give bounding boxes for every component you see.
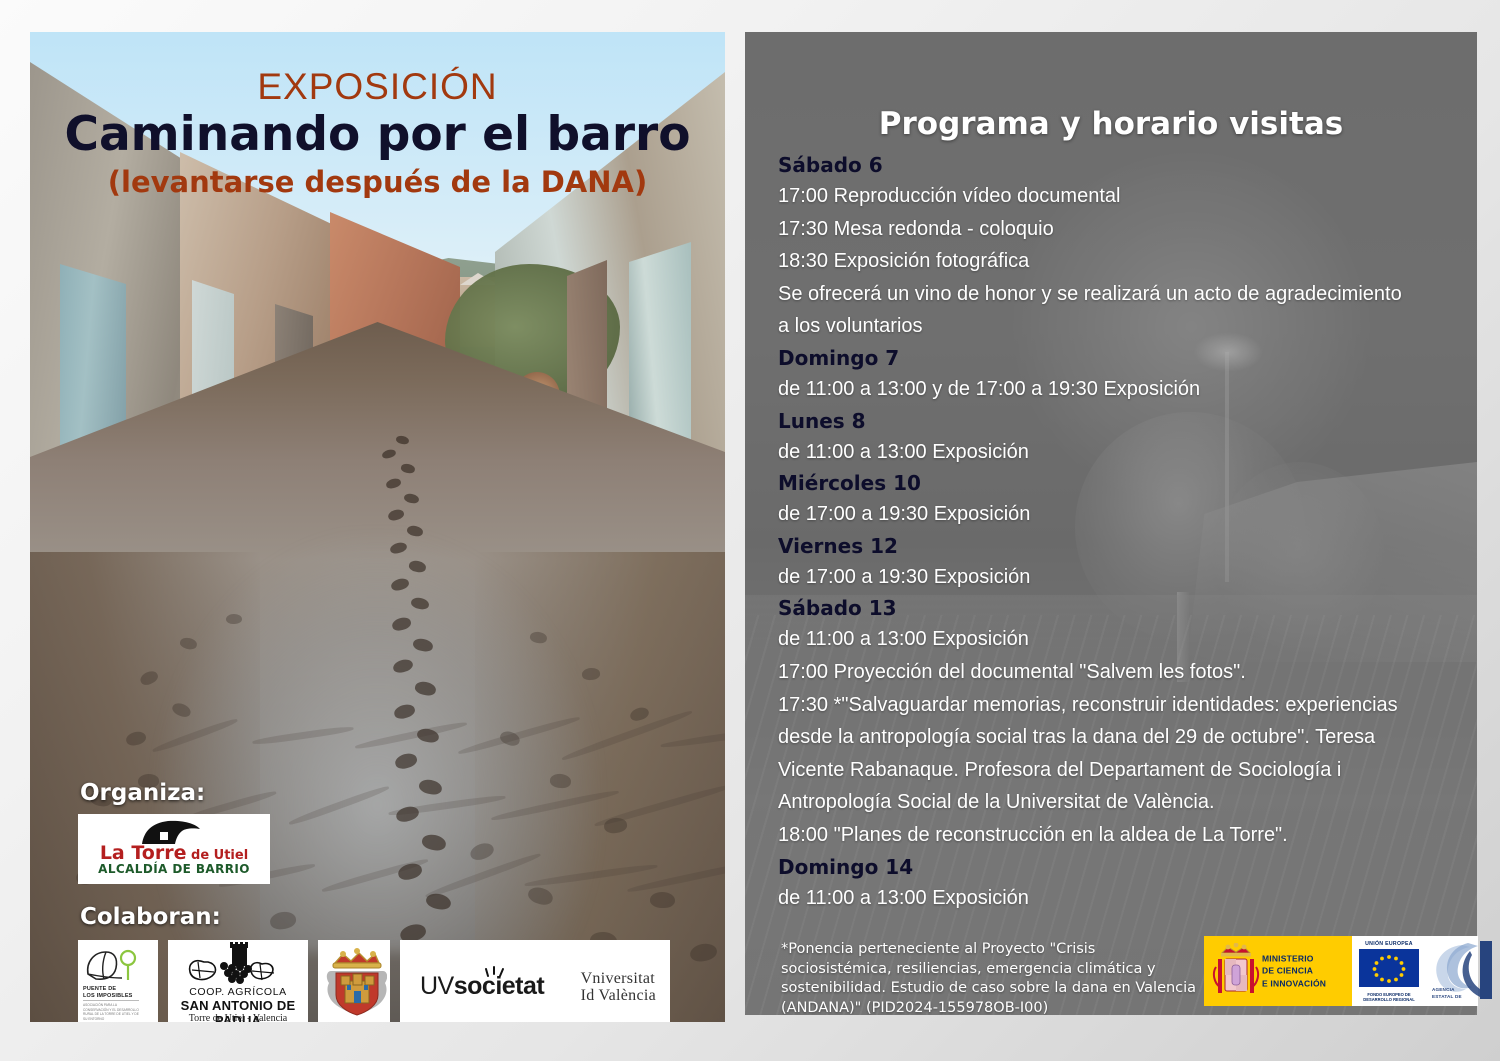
photo-footprint <box>400 463 416 474</box>
screenshot-canvas: EXPOSICIÓN Caminando por el barro (levan… <box>0 0 1500 1061</box>
schedule-entry: de 17:00 a 19:30 Exposición <box>778 498 1468 531</box>
schedule-day-header: Lunes 8 <box>778 406 1468 436</box>
eu-flag-icon <box>1359 949 1419 987</box>
photo-footprint <box>408 559 427 573</box>
photo-footprint <box>226 614 242 625</box>
poster-subtitle: (levantarse después de la DANA) <box>30 165 725 200</box>
photo-footprint <box>414 680 437 697</box>
organizer-logo-line2: ALCALDÍA DE BARRIO <box>86 862 262 876</box>
program-panel: Programa y horario visitas Sábado 617:00… <box>745 32 1477 1015</box>
universitat-de-valencia-wordmark: Vniversitat Id València <box>581 970 656 1005</box>
schedule-day-header: Sábado 13 <box>778 593 1468 623</box>
photo-tyre-track <box>524 863 658 889</box>
photo-tyre-track <box>355 720 468 751</box>
schedule-entry: de 11:00 a 13:00 Exposición <box>778 436 1468 469</box>
logo-union-europea-feder: UNIÓN EUROPEA FONDO EUROPEO DEDESARROLLO… <box>1352 936 1426 1006</box>
organizer-logo-la-torre-de-utiel: La Torre de Utiel ALCALDÍA DE BARRIO <box>78 814 270 884</box>
photo-footprint <box>394 751 419 770</box>
photo-footprint <box>468 840 496 863</box>
puente-mark-icon <box>82 944 142 988</box>
photo-tyre-track <box>288 784 390 827</box>
coop-logo-line1: COOP. AGRÍCOLA <box>168 986 308 998</box>
photo-footprint <box>125 730 148 747</box>
photo-footprint <box>406 524 424 537</box>
schedule-entry: de 17:00 a 19:30 Exposición <box>778 561 1468 594</box>
schedule-day-header: Domingo 7 <box>778 343 1468 373</box>
photo-tyre-track <box>627 857 725 894</box>
aei-label: AGENCIAESTATAL DE <box>1432 987 1462 1000</box>
eu-top-label: UNIÓN EUROPEA <box>1352 941 1426 947</box>
schedule-entry: de 11:00 a 13:00 Exposición <box>778 882 1468 915</box>
collaborator-logo-escudo-utiel <box>318 940 390 1022</box>
photo-tyre-track <box>457 715 580 756</box>
photo-tyre-track <box>660 722 725 750</box>
colaboran-label: Colaboran: <box>80 904 221 930</box>
uv-spark-icon <box>484 966 506 980</box>
funding-logos-strip: MINISTERIODE CIENCIAE INNOVACIÓN UNIÓN E… <box>1204 936 1478 1006</box>
photo-tyre-track <box>152 717 239 754</box>
collaborator-logos: PUENTE DELOS IMPOSIBLES ASOCIACIÓN PARA … <box>78 940 670 1022</box>
schedule-entry: Vicente Rabanaque. Profesora del Departa… <box>778 754 1468 787</box>
schedule-day-header: Miércoles 10 <box>778 468 1468 498</box>
grapes-and-tower-icon <box>174 942 302 986</box>
eu-bottom-label: FONDO EUROPEO DEDESARROLLO REGIONAL <box>1352 992 1426 1003</box>
coat-of-arms-icon <box>321 943 387 1022</box>
photo-tyre-track <box>491 789 620 823</box>
photo-footprint <box>526 885 555 908</box>
photo-footprint <box>391 616 412 632</box>
spain-coat-of-arms-icon <box>1212 943 1260 999</box>
organiza-label: Organiza: <box>80 780 205 806</box>
poster-headline-block: EXPOSICIÓN Caminando por el barro (levan… <box>30 68 725 200</box>
collaborator-logo-uv-societat: UVsocietat Vniversitat Id València <box>400 940 670 1022</box>
collaborator-logo-puente-de-los-imposibles: PUENTE DELOS IMPOSIBLES ASOCIACIÓN PARA … <box>78 940 158 1022</box>
photo-footprint <box>418 778 443 796</box>
photo-footprint <box>582 667 601 680</box>
schedule-entry: desde la antropología social tras la dan… <box>778 721 1468 754</box>
organizer-logo-line1: La Torre de Utiel <box>86 842 262 864</box>
photo-footprint <box>269 910 297 931</box>
puente-logo-subtext: ASOCIACIÓN PARA LA CONSERVACIÓN Y EL DES… <box>83 1003 141 1022</box>
photo-tyre-track <box>594 783 725 829</box>
schedule-entry: 17:30 Mesa redonda - coloquio <box>778 213 1468 246</box>
page-title: Caminando por el barro <box>30 109 725 162</box>
photo-footprint <box>412 637 434 653</box>
photo-tyre-track <box>252 725 354 746</box>
photo-footprint <box>170 701 192 720</box>
photo-footprint <box>381 448 396 460</box>
schedule-entry: 17:00 Proyección del documental "Salvem … <box>778 656 1468 689</box>
schedule-entry: 18:00 "Planes de reconstrucción en la al… <box>778 819 1468 852</box>
exposition-poster: EXPOSICIÓN Caminando por el barro (levan… <box>30 32 725 1022</box>
photo-footprint <box>689 942 719 964</box>
program-content: Programa y horario visitas Sábado 617:00… <box>745 32 1477 1015</box>
schedule-entry: Antropología Social de la Universitat de… <box>778 786 1468 819</box>
photo-footprint <box>385 477 402 490</box>
coop-logo-line3: Torre de Utiel - Valencia <box>168 1013 308 1022</box>
photo-footprint <box>393 702 417 720</box>
poster-eyebrow: EXPOSICIÓN <box>30 68 725 107</box>
schedule-entry: 17:30 *"Salvaguardar memorias, reconstru… <box>778 689 1468 722</box>
schedule-entry: Se ofrecerá un vino de honor y se realiz… <box>778 278 1468 311</box>
schedule-entry: de 11:00 a 13:00 y de 17:00 a 19:30 Expo… <box>778 373 1468 406</box>
schedule-list: Sábado 617:00 Reproducción vídeo documen… <box>778 150 1468 914</box>
photo-footprint <box>389 541 408 556</box>
schedule-entry: de 11:00 a 13:00 Exposición <box>778 623 1468 656</box>
uv-societat-wordmark: UVsocietat <box>420 972 544 1001</box>
photo-footprint <box>629 705 651 723</box>
schedule-day-header: Domingo 14 <box>778 852 1468 882</box>
program-footnote: *Ponencia perteneciente al Proyecto "Cri… <box>781 940 1201 1015</box>
schedule-day-header: Sábado 6 <box>778 150 1468 180</box>
photo-footprint <box>403 493 420 505</box>
photo-footprint <box>387 508 405 522</box>
photo-footprint <box>421 833 447 852</box>
photo-footprint <box>390 577 410 593</box>
logo-ministerio-de-ciencia-e-innovacion: MINISTERIODE CIENCIAE INNOVACIÓN <box>1204 936 1352 1006</box>
photo-tyre-track <box>388 794 506 817</box>
divider <box>83 1000 139 1001</box>
photo-footprint <box>410 596 430 611</box>
photo-footprint <box>395 435 409 446</box>
schedule-entry: 18:30 Exposición fotográfica <box>778 245 1468 278</box>
logo-agencia-estatal-de-investigacion: AGENCIAESTATAL DE <box>1426 936 1478 1006</box>
photo-footprint <box>650 892 676 909</box>
ministerio-label: MINISTERIODE CIENCIAE INNOVACIÓN <box>1262 953 1326 990</box>
schedule-entry: a los voluntarios <box>778 310 1468 343</box>
program-title: Programa y horario visitas <box>745 106 1477 142</box>
schedule-entry: 17:00 Reproducción vídeo documental <box>778 180 1468 213</box>
photo-footprint <box>179 636 198 650</box>
photo-footprint <box>138 669 159 687</box>
photo-tyre-track <box>561 709 693 763</box>
puente-logo-name: PUENTE DELOS IMPOSIBLES <box>83 986 133 1000</box>
schedule-day-header: Viernes 12 <box>778 531 1468 561</box>
photo-footprint <box>549 773 572 789</box>
collaborator-logo-coop-san-antonio-de-padua: COOP. AGRÍCOLA SAN ANTONIO DE PADUA Torr… <box>168 940 308 1022</box>
photo-footprint <box>392 657 415 674</box>
photo-footprint <box>529 631 547 644</box>
